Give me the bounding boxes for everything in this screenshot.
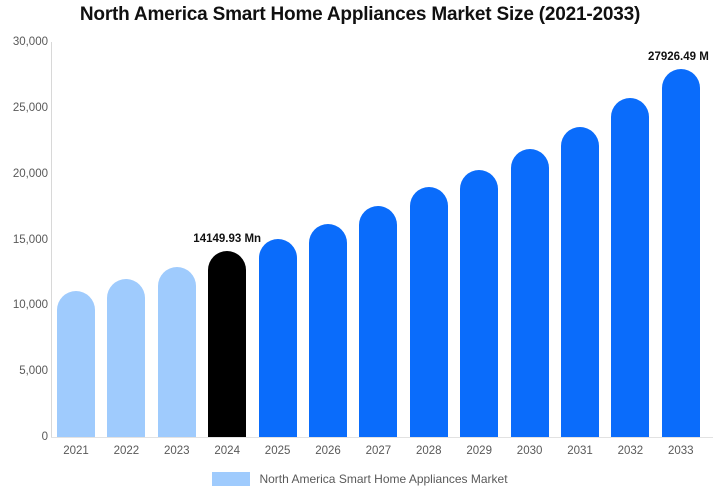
bar-2031[interactable]	[561, 42, 599, 437]
bar-rect-2030[interactable]	[511, 149, 549, 437]
bar-2022[interactable]	[107, 42, 145, 437]
bar-rect-2023[interactable]	[158, 267, 196, 437]
bar-rect-2032[interactable]	[611, 98, 649, 437]
legend-swatch-icon	[212, 472, 250, 486]
x-axis-tick-2030: 2030	[502, 445, 558, 457]
bar-2023[interactable]	[158, 42, 196, 437]
bar-rect-2029[interactable]	[460, 170, 498, 437]
x-axis-tick-2027: 2027	[350, 445, 406, 457]
bar-rect-2026[interactable]	[309, 224, 347, 437]
x-axis-tick-2023: 2023	[149, 445, 205, 457]
x-axis-tick-2029: 2029	[451, 445, 507, 457]
x-axis-tick-2031: 2031	[552, 445, 608, 457]
bar-2032[interactable]	[611, 42, 649, 437]
x-axis-tick-2028: 2028	[401, 445, 457, 457]
y-axis-tick-10000: 10,000	[0, 299, 48, 311]
bar-2029[interactable]	[460, 42, 498, 437]
bar-2024[interactable]: 14149.93 Mn	[208, 42, 246, 437]
bar-rect-2028[interactable]	[410, 187, 448, 437]
y-axis-tick-0: 0	[0, 431, 48, 443]
x-axis-tick-2026: 2026	[300, 445, 356, 457]
bar-rect-2021[interactable]	[57, 291, 95, 437]
bar-2025[interactable]	[259, 42, 297, 437]
chart-legend: North America Smart Home Appliances Mark…	[0, 472, 720, 486]
bar-rect-2031[interactable]	[561, 127, 599, 437]
bar-rect-2022[interactable]	[107, 279, 145, 437]
x-axis-tick-2021: 2021	[48, 445, 104, 457]
bar-value-label-2024: 14149.93 Mn	[193, 233, 261, 245]
y-axis-tick-25000: 25,000	[0, 102, 48, 114]
chart-title: North America Smart Home Appliances Mark…	[0, 4, 720, 26]
bar-rect-2025[interactable]	[259, 239, 297, 437]
y-axis-tick-15000: 15,000	[0, 234, 48, 246]
x-axis-tick-2033: 2033	[653, 445, 709, 457]
x-axis-tick-2022: 2022	[98, 445, 154, 457]
bar-chart: North America Smart Home Appliances Mark…	[0, 0, 720, 500]
plot-area: 14149.93 Mn27926.49 M	[51, 42, 711, 437]
bar-2033[interactable]: 27926.49 M	[662, 42, 700, 437]
y-axis-tick-5000: 5,000	[0, 365, 48, 377]
y-axis-tick-30000: 30,000	[0, 36, 48, 48]
bar-rect-2027[interactable]	[359, 206, 397, 437]
bar-2028[interactable]	[410, 42, 448, 437]
bar-rect-2024[interactable]	[208, 251, 246, 437]
legend-label: North America Smart Home Appliances Mark…	[259, 472, 507, 486]
x-axis-tick-2024: 2024	[199, 445, 255, 457]
bar-2026[interactable]	[309, 42, 347, 437]
x-axis-line	[51, 437, 713, 438]
x-axis-tick-2025: 2025	[250, 445, 306, 457]
bar-2021[interactable]	[57, 42, 95, 437]
bar-2030[interactable]	[511, 42, 549, 437]
x-axis-tick-2032: 2032	[602, 445, 658, 457]
bar-rect-2033[interactable]	[662, 69, 700, 437]
bar-2027[interactable]	[359, 42, 397, 437]
y-axis-tick-20000: 20,000	[0, 168, 48, 180]
bar-value-label-2033: 27926.49 M	[648, 51, 709, 63]
y-axis-tick-labels: 05,00010,00015,00020,00025,00030,000	[0, 0, 48, 500]
